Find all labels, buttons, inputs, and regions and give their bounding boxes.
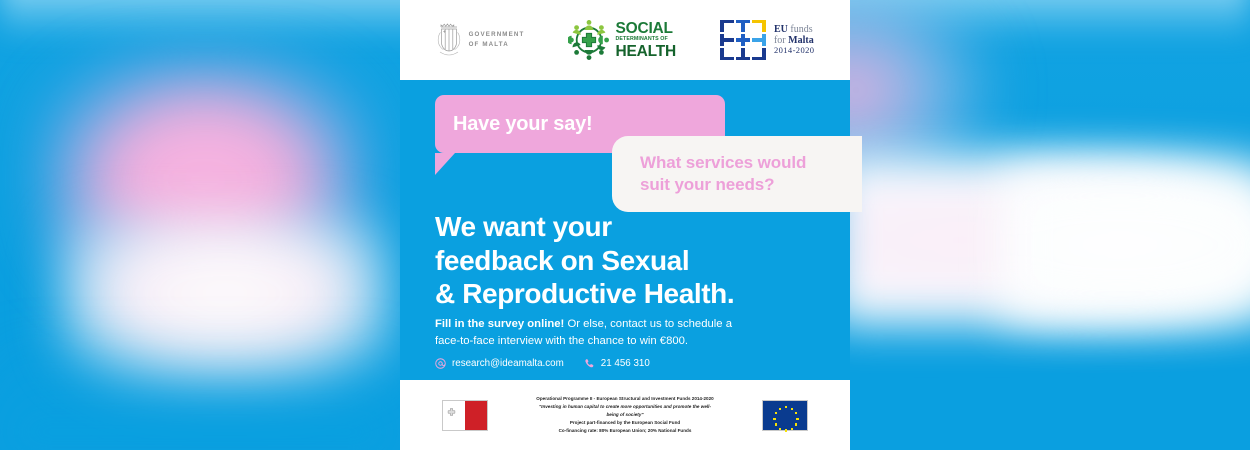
page-title: We want your feedback on Sexual & Reprod… (435, 210, 734, 311)
survey-instructions-bold: Fill in the survey online! (435, 318, 564, 330)
survey-instructions: Fill in the survey online! Or else, cont… (435, 316, 735, 350)
george-cross-icon (447, 404, 456, 422)
hero-panel: Have your say! What services would suit … (400, 80, 850, 380)
sdh-line-2: DETERMINANTS OF (615, 37, 676, 42)
funding-line-1: Operational Programme II - European Stru… (506, 395, 744, 403)
eu-cell-r3c3 (752, 48, 766, 60)
eu-cell-r1c3 (752, 20, 766, 32)
contact-list: research@ideamalta.com 21 456 310 (435, 358, 650, 369)
contact-phone-label: 21 456 310 (601, 358, 650, 369)
eu-cell-r1c2 (736, 20, 750, 32)
bubble-white-label: What services would suit your needs? (640, 152, 806, 197)
european-union-flag-icon (762, 400, 808, 431)
eu-funds-wordmark: EU funds for Malta 2014-2020 (774, 24, 814, 56)
eu-cell-r3c1 (720, 48, 734, 60)
sdh-wordmark: SOCIAL DETERMINANTS OF HEALTH (615, 21, 676, 59)
contact-email[interactable]: research@ideamalta.com (435, 358, 564, 369)
email-icon (435, 358, 446, 369)
contact-email-label: research@ideamalta.com (452, 358, 564, 369)
speech-bubble-what-services: What services would suit your needs? (612, 136, 862, 212)
eu-line-1-bold: EU (774, 24, 788, 35)
eu-line-1-light: funds (788, 24, 813, 35)
malta-flag-icon (442, 400, 488, 431)
funding-line-3: being of society" (506, 411, 744, 419)
funding-line-2: "Investing in human capital to create mo… (506, 403, 744, 411)
funding-line-4: Project part-financed by the European So… (506, 419, 744, 427)
logo-government-of-malta: GOVERNMENT OF MALTA (436, 21, 525, 59)
logo-social-determinants-of-health: SOCIAL DETERMINANTS OF HEALTH (568, 19, 676, 61)
bubble-pink-label: Have your say! (453, 113, 593, 136)
funding-statement: Operational Programme II - European Stru… (506, 395, 744, 434)
eu-cell-r3c2 (736, 48, 750, 60)
sdh-line-3: HEALTH (615, 44, 676, 60)
funding-footer: Operational Programme II - European Stru… (400, 380, 850, 450)
gov-line-2: OF MALTA (469, 40, 525, 50)
phone-icon (584, 358, 595, 369)
campaign-poster: GOVERNMENT OF MALTA (400, 0, 850, 450)
sdh-line-1: SOCIAL (615, 21, 676, 37)
contact-phone[interactable]: 21 456 310 (584, 358, 650, 369)
funding-line-5: Co-financing rate: 80% European Union; 2… (506, 427, 744, 435)
eu-cell-r2c1 (720, 34, 734, 46)
eu-cell-r1c1 (720, 20, 734, 32)
eu-funds-grid-icon (720, 20, 766, 60)
background-blob-right-white-2 (1000, 165, 1250, 325)
eu-line-1: EU funds (774, 24, 814, 35)
eu-line-3: 2014-2020 (774, 46, 814, 56)
background-blob-left-bottom (0, 330, 400, 450)
eu-cell-r2c3 (752, 34, 766, 46)
logo-header: GOVERNMENT OF MALTA (400, 0, 850, 80)
malta-coat-of-arms-icon (436, 21, 462, 59)
gov-line-1: GOVERNMENT (469, 30, 525, 40)
people-circle-cross-icon (568, 19, 610, 61)
eu-cell-r2c2 (736, 34, 750, 46)
speech-bubble-pink-tail (435, 153, 455, 175)
government-of-malta-wordmark: GOVERNMENT OF MALTA (469, 30, 525, 49)
malta-flag-red-band (465, 401, 487, 430)
logo-eu-funds-for-malta: EU funds for Malta 2014-2020 (720, 20, 814, 60)
